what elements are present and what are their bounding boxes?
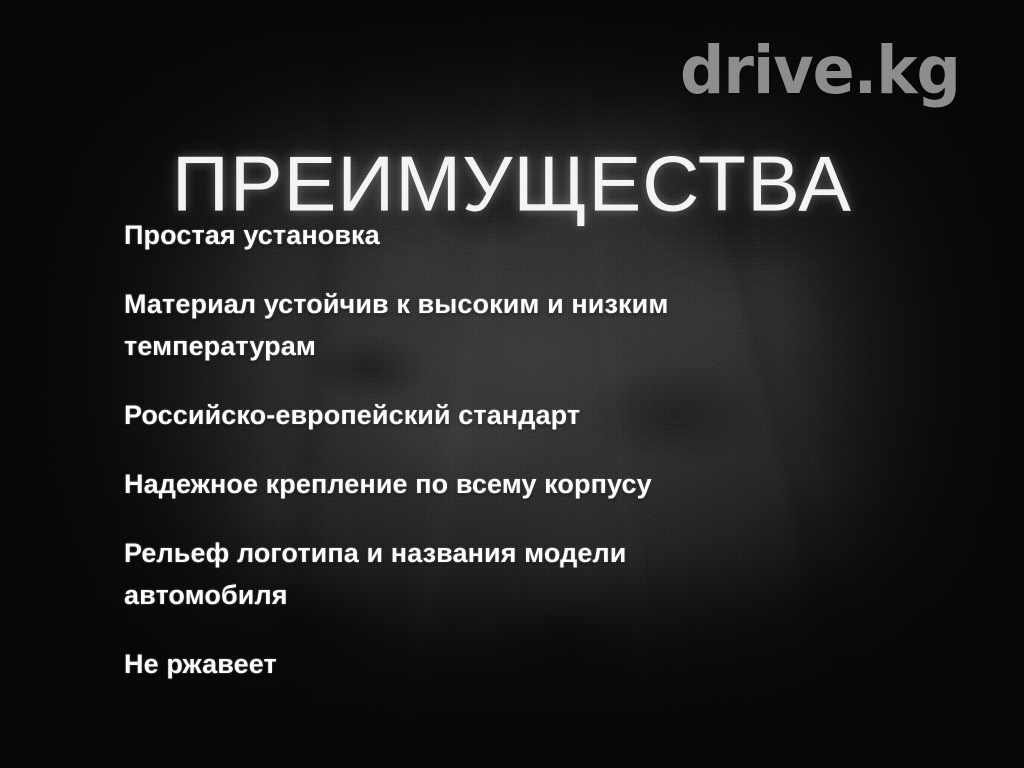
list-item: Простая установка xyxy=(124,214,764,256)
list-item: Не ржавеет xyxy=(124,643,764,685)
list-item: Материал устойчив к высоким и низким тем… xyxy=(124,283,764,367)
page-title: ПРЕИМУЩЕСТВА xyxy=(0,146,1024,224)
watermark-logo: drive.kg xyxy=(680,38,960,104)
list-item: Надежное крепление по всему корпусу xyxy=(124,463,764,505)
benefits-list: Простая установка Материал устойчив к вы… xyxy=(124,214,764,685)
list-item: Рельеф логотипа и названия модели автомо… xyxy=(124,532,764,616)
presentation-slide: ПРЕИМУЩЕСТВА Простая установка Материал … xyxy=(0,0,1024,768)
slide-content: ПРЕИМУЩЕСТВА Простая установка Материал … xyxy=(0,0,1024,768)
list-item: Российско-европейский стандарт xyxy=(124,394,764,436)
